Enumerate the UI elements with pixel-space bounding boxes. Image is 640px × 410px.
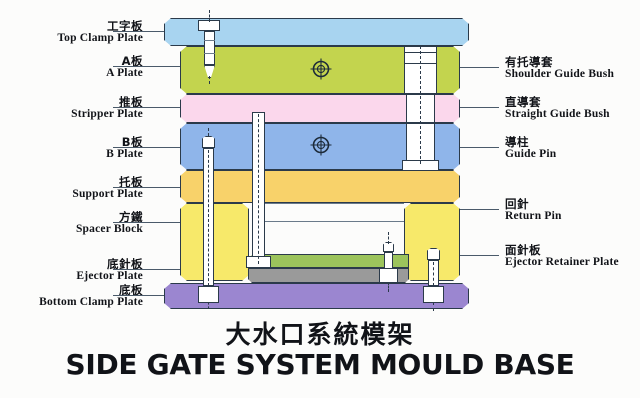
leader-ejector-plate	[113, 269, 188, 270]
ejector-pin-centerline	[388, 232, 389, 244]
label-bottom-clamp-plate: 底板 Bottom Clamp Plate	[39, 284, 143, 308]
label-cn: 直導套	[505, 96, 610, 108]
title-english: SIDE GATE SYSTEM MOULD BASE	[0, 348, 640, 381]
label-stripper-plate: 推板 Stripper Plate	[71, 96, 143, 120]
label-cn: 有托導套	[505, 56, 614, 68]
center-mark-b-plate	[310, 134, 332, 156]
support-plate	[180, 170, 460, 203]
label-en: Top Clamp Plate	[57, 32, 143, 44]
label-guide-pin: 導柱 Guide Pin	[505, 136, 556, 160]
return-pin-right-centerline	[433, 262, 434, 286]
label-cn: 回針	[505, 198, 562, 210]
label-shoulder-guide-bush: 有托導套 Shoulder Guide Bush	[505, 56, 614, 80]
leader-stripper-plate	[113, 107, 185, 108]
ejector-pin-foot	[379, 268, 398, 283]
ejector-pin-centerline-bottom	[388, 282, 389, 292]
leader-spacer-block	[113, 222, 185, 223]
label-en: Stripper Plate	[71, 108, 143, 120]
label-en: Shoulder Guide Bush	[505, 68, 614, 80]
sprue-bush-shank	[204, 31, 215, 65]
label-en: Support Plate	[72, 188, 143, 200]
return-pin-left-centerline	[208, 150, 209, 286]
label-en: Bottom Clamp Plate	[39, 296, 143, 308]
label-en: Spacer Block	[76, 223, 143, 235]
label-a-plate: A板 A Plate	[106, 55, 143, 79]
spacer-block-left	[180, 203, 249, 281]
support-pillar-centerline	[258, 114, 259, 264]
center-mark-a-plate	[310, 58, 332, 80]
return-pin-right-centerline-bottom	[433, 302, 434, 311]
sprue-bush-thread-1	[204, 40, 215, 41]
label-en: Guide Pin	[505, 148, 556, 160]
label-spacer-block: 方鐵 Spacer Block	[76, 211, 143, 235]
label-en: A Plate	[106, 67, 143, 79]
return-pin-left-head	[202, 136, 215, 148]
cavity-rail-lower	[265, 221, 404, 222]
sprue-bush-thread-2	[204, 53, 215, 54]
leader-support-plate	[113, 187, 185, 188]
return-pin-left-foot	[198, 286, 219, 303]
label-en: Ejector Plate	[76, 270, 143, 282]
label-b-plate: B板 B Plate	[106, 136, 143, 160]
return-pin-left-centerline-top	[208, 128, 209, 136]
cavity-rail-upper	[265, 203, 404, 204]
return-pin-left-centerline-bottom	[208, 302, 209, 309]
sprue-bush-centerline-bottom	[209, 76, 210, 84]
leader-a-plate	[113, 66, 185, 67]
label-ejector-retainer-plate: 面針板 Ejector Retainer Plate	[505, 244, 619, 268]
return-pin-right-foot	[423, 286, 444, 303]
leader-b-plate	[113, 147, 185, 148]
label-straight-guide-bush: 直導套 Straight Guide Bush	[505, 96, 610, 120]
label-ejector-plate: 底針板 Ejector Plate	[76, 258, 143, 282]
label-return-pin: 回針 Return Pin	[505, 198, 562, 222]
label-cn: 導柱	[505, 136, 556, 148]
label-en: B Plate	[106, 148, 143, 160]
diagram-canvas: 工字板 Top Clamp Plate A板 A Plate 推板 Stripp…	[0, 0, 640, 410]
sprue-bush-centerline	[209, 10, 210, 22]
label-en: Ejector Retainer Plate	[505, 256, 619, 268]
footer-spacer	[0, 398, 640, 410]
guide-pin-centerline	[420, 46, 421, 164]
label-cn: 面針板	[505, 244, 619, 256]
label-en: Straight Guide Bush	[505, 108, 610, 120]
return-pin-right-head	[427, 248, 440, 260]
label-en: Return Pin	[505, 210, 562, 222]
label-top-clamp-plate: 工字板 Top Clamp Plate	[57, 20, 143, 44]
title-chinese: 大水口系統模架	[0, 315, 640, 351]
label-support-plate: 托板 Support Plate	[72, 176, 143, 200]
